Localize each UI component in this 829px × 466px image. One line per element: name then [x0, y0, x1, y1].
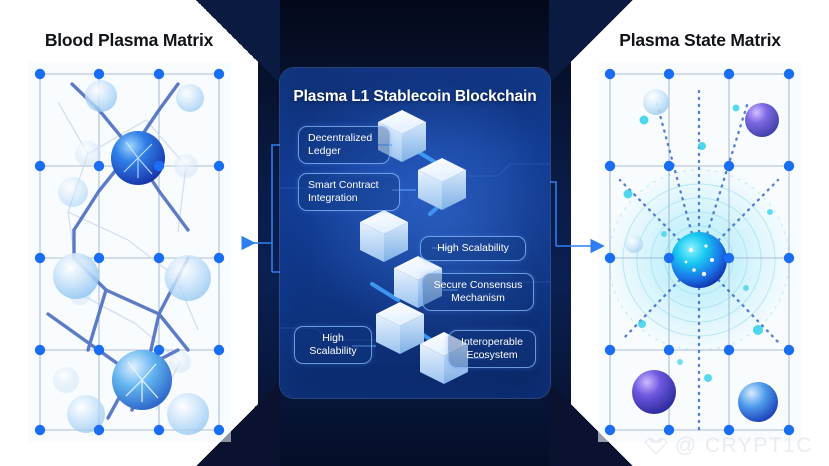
pill-interoperable-ecosystem[interactable]: Interoperable Ecosystem — [448, 330, 536, 368]
watermark-handle: @ CRYPT1C — [675, 434, 813, 458]
diagram-canvas: Blood Plasma Matrix — [0, 0, 829, 466]
cube-3 — [360, 210, 408, 262]
right-panel-title: Plasma State Matrix — [571, 30, 829, 51]
plasma-state-matrix-graphic — [598, 62, 801, 442]
pill-high-scalability-lower[interactable]: High Scalability — [294, 326, 372, 364]
pill-decentralized-ledger[interactable]: Decentralized Ledger — [298, 126, 390, 164]
pill-secure-consensus-mechanism[interactable]: Secure Consensus Mechanism — [422, 273, 534, 311]
pill-high-scalability-upper[interactable]: High Scalability — [420, 236, 526, 261]
pill-smart-contract-integration[interactable]: Smart Contract Integration — [298, 173, 400, 211]
cube-5 — [376, 302, 424, 354]
diamond-logo-icon — [643, 436, 669, 456]
blood-plasma-matrix-graphic — [28, 62, 231, 442]
cube-2 — [418, 158, 466, 210]
watermark: @ CRYPT1C — [643, 434, 813, 458]
left-panel-title: Blood Plasma Matrix — [0, 30, 258, 51]
center-panel-card: Plasma L1 Stablecoin Blockchain — [280, 68, 550, 398]
